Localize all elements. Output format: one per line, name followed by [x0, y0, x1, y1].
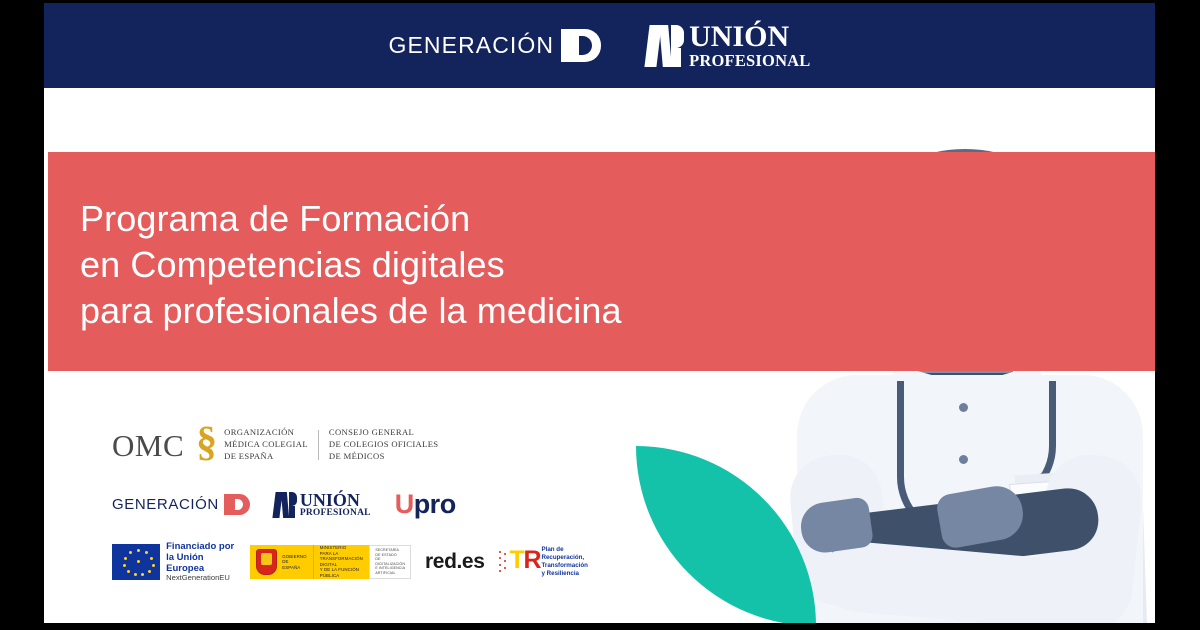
eu-funding-label: Financiado por la Unión Europea	[166, 541, 236, 575]
ministerio-label: MINISTERIO PARA LA TRANSFORMACIÓN DIGITA…	[320, 545, 364, 578]
omc-descriptor: ORGANIZACIÓN MÉDICA COLEGIAL DE ESPAÑA C…	[224, 427, 438, 463]
up-monogram-icon	[647, 25, 685, 67]
plan-recuperacion-logo: T R Plan de Recuperación, Transformación…	[499, 546, 588, 578]
secretaria-label: SECRETARÍA DE ESTADO DE DIGITALIZACIÓN E…	[375, 548, 405, 575]
union-profesional-logo-small: UNIÓN PROFESIONAL	[274, 491, 371, 519]
omc-acronym: OMC	[112, 430, 184, 461]
union-line2-small: PROFESIONAL	[300, 509, 371, 519]
gobierno-label: GOBIERNO DE ESPAÑA	[282, 554, 307, 571]
eu-funding-logo: Financiado por la Unión Europea NextGene…	[112, 541, 236, 584]
teal-leaf-decoration	[636, 446, 816, 623]
promo-banner-canvas: GENERACIÓN UNIÓN PROFESIONAL	[0, 0, 1200, 630]
generacion-d-logo-header: GENERACIÓN	[388, 29, 601, 62]
omc-logo: OMC § ORGANIZACIÓN MÉDICA COLEGIAL DE ES…	[104, 419, 534, 471]
nextgeneration-label: NextGenerationEU	[166, 574, 236, 583]
up-monogram-icon-small	[274, 492, 297, 518]
generacion-wordmark: GENERACIÓN	[388, 34, 554, 57]
leaf-shape-icon	[636, 446, 816, 623]
upro-pro: pro	[414, 489, 456, 519]
eu-flag-icon	[112, 544, 160, 580]
title-banner: Programa de Formación en Competencias di…	[48, 152, 1155, 371]
omc-col2: CONSEJO GENERAL DE COLEGIOS OFICIALES DE…	[329, 427, 439, 463]
redes-logo: red.es	[425, 551, 484, 572]
upro-logo: Upro	[395, 491, 456, 518]
upro-u: U	[395, 489, 414, 519]
page-title: Programa de Formación en Competencias di…	[80, 196, 622, 334]
generacion-wordmark-small: GENERACIÓN	[112, 496, 219, 513]
logo-stack: OMC § ORGANIZACIÓN MÉDICA COLEGIAL DE ES…	[104, 419, 534, 583]
secretaria-block: SECRETARÍA DE ESTADO DE DIGITALIZACIÓN E…	[369, 545, 411, 579]
ministerio-block: MINISTERIO PARA LA TRANSFORMACIÓN DIGITA…	[314, 545, 370, 579]
funding-logo-row: Financiado por la Unión Europea NextGene…	[104, 541, 534, 584]
prtr-t: T	[510, 548, 525, 573]
prtr-r: R	[524, 548, 542, 573]
union-line1-small: UNIÓN	[300, 491, 371, 509]
omc-divider	[318, 430, 319, 460]
generacion-d-logo-small: GENERACIÓN	[112, 494, 250, 515]
page-surface: GENERACIÓN UNIÓN PROFESIONAL	[44, 3, 1155, 623]
asclepius-rod-icon: §	[194, 425, 214, 465]
partner-logo-row: GENERACIÓN UNIÓN PROFESIONAL Upro	[104, 491, 534, 519]
gobierno-espana-logo: GOBIERNO DE ESPAÑA MINISTERIO PARA LA TR…	[250, 545, 411, 579]
d-logo-icon-small	[224, 494, 250, 515]
prtr-tr-icon: T R	[499, 547, 537, 577]
gobierno-block: GOBIERNO DE ESPAÑA	[250, 545, 313, 579]
omc-col1: ORGANIZACIÓN MÉDICA COLEGIAL DE ESPAÑA	[224, 427, 308, 463]
prtr-label: Plan de Recuperación, Transformación y R…	[542, 546, 588, 578]
spain-coat-of-arms-icon	[256, 549, 277, 575]
d-logo-icon	[561, 29, 601, 62]
